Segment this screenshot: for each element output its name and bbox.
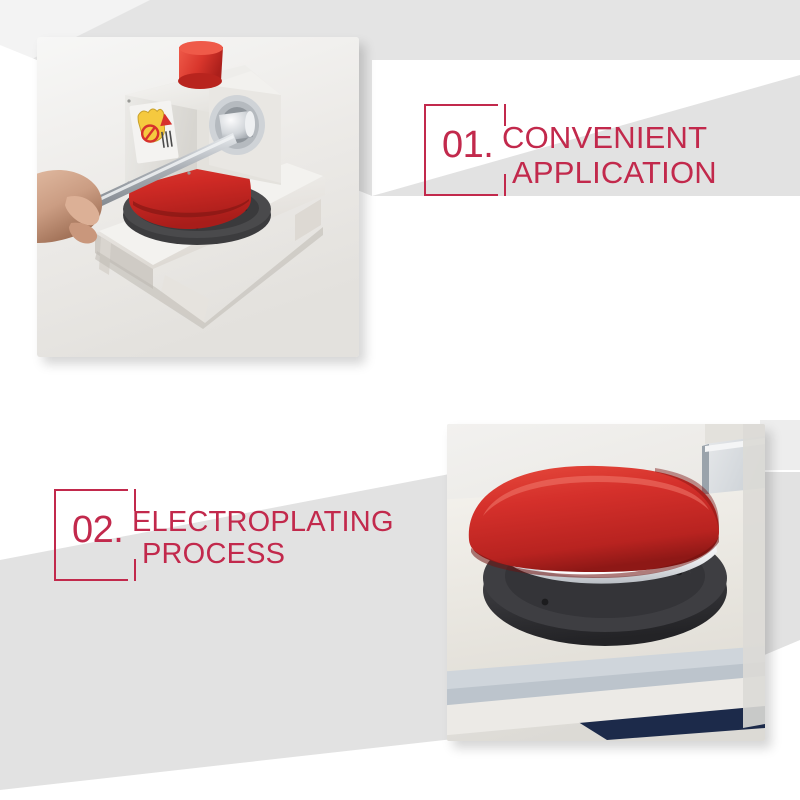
feature-title-01: CONVENIENT APPLICATION xyxy=(502,104,717,190)
feature-title-02-line2: PROCESS xyxy=(132,538,394,570)
band-right-corner xyxy=(760,420,800,470)
red-top-knob-base xyxy=(178,73,222,89)
chrome-cylinder-cap xyxy=(245,111,255,137)
bracket-bottom-right-edge xyxy=(504,174,506,196)
bracket-bottom-edge xyxy=(424,194,498,196)
feature-title-01-line2: APPLICATION xyxy=(502,156,717,191)
bracket-left-edge xyxy=(54,489,56,581)
body-screw-icon xyxy=(187,171,190,174)
feature-title-02: ELECTROPLATING PROCESS xyxy=(132,489,394,571)
body-screw-icon xyxy=(127,99,130,102)
feature-title-02-line1: ELECTROPLATING xyxy=(132,506,394,538)
feature-block-02: 02. ELECTROPLATING PROCESS xyxy=(54,489,394,581)
photo-convenient-application xyxy=(37,37,359,357)
bracket-bottom-edge xyxy=(54,579,128,581)
bracket-top-right-edge xyxy=(134,489,136,511)
bracket-frame-icon-02: 02. xyxy=(54,489,136,581)
bracket-frame-icon-01: 01. xyxy=(424,104,506,196)
photo-electroplating-process-svg xyxy=(447,424,765,741)
bracket-top-right-edge xyxy=(504,104,506,126)
machine-right-column xyxy=(743,424,765,728)
bracket-left-edge xyxy=(424,104,426,196)
feature-infographic-page: 01. CONVENIENT APPLICATION 02. ELECTROPL… xyxy=(0,0,800,800)
base-bolt-icon xyxy=(542,599,549,606)
bracket-top-edge xyxy=(424,104,498,106)
red-top-knob-cap xyxy=(179,41,223,55)
feature-block-01: 01. CONVENIENT APPLICATION xyxy=(424,104,717,196)
bracket-top-edge xyxy=(54,489,128,491)
photo-convenient-application-svg xyxy=(37,37,359,357)
bracket-bottom-right-edge xyxy=(134,559,136,581)
feature-number-02: 02. xyxy=(72,509,123,552)
feature-number-01: 01. xyxy=(442,124,493,167)
feature-title-01-line1: CONVENIENT xyxy=(502,120,707,155)
photo-electroplating-process xyxy=(447,424,765,741)
